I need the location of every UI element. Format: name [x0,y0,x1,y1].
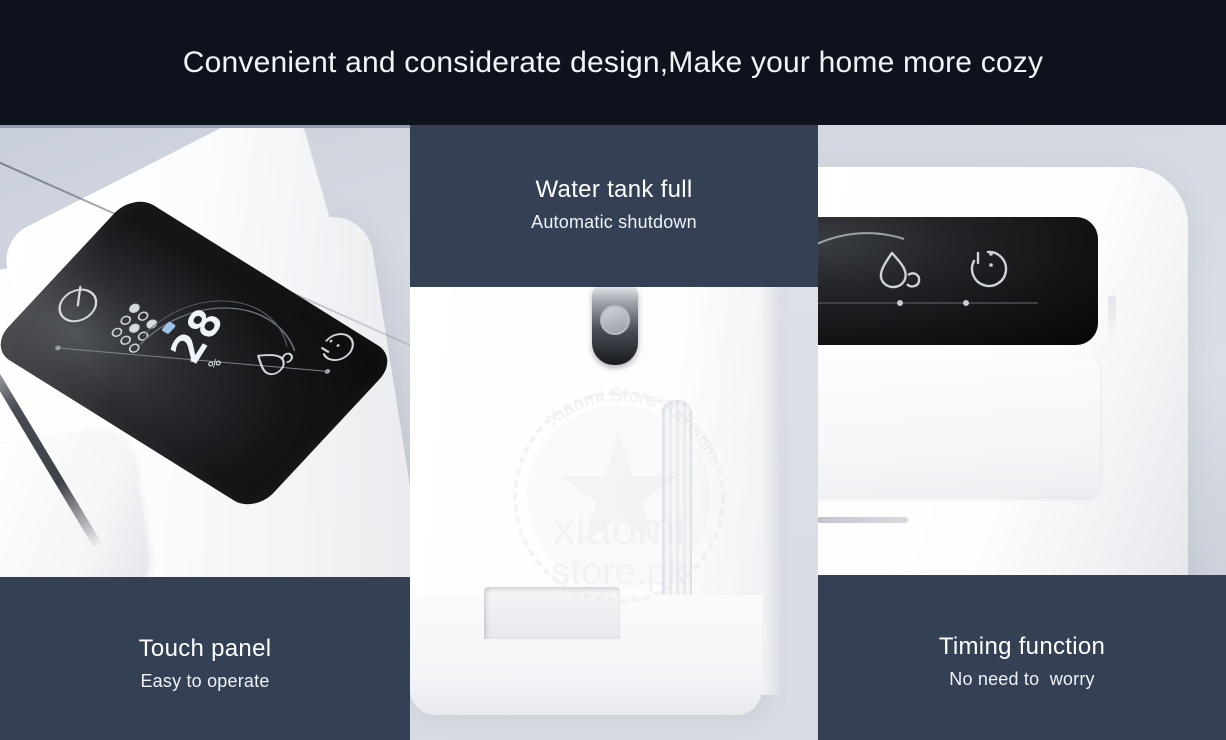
mode-grid-icon [105,303,165,354]
photo-backdrop [818,125,1226,575]
timer-icon [972,252,1006,286]
timing-function-photo [818,125,1226,575]
power-icon [52,284,104,327]
panel-touch-panel: 28 % [0,125,410,740]
touch-panel-caption: Touch panel Easy to operate [0,577,410,740]
header-banner: Convenient and considerate design,Make y… [0,0,1226,125]
panel-water-tank: Xiaomi Store Pakistan xiaomi store.pk Wa… [410,125,818,740]
front-door-panel [818,357,1100,497]
svg-text:%: % [204,355,226,372]
timer-icon [317,329,359,365]
caption-subtitle: Automatic shutdown [531,212,697,233]
caption-title: Timing function [939,632,1105,662]
caption-title: Touch panel [139,634,272,664]
panel-top-hairline [0,125,410,128]
water-drop-icon [881,253,919,287]
caption-subtitle: No need to worry [949,669,1094,690]
water-drop-icon [251,342,294,378]
page-title: Convenient and considerate design,Make y… [183,46,1043,80]
product-feature-graphic: Convenient and considerate design,Make y… [0,0,1226,740]
timing-function-caption: Timing function No need to worry [818,575,1226,740]
touch-panel-photo: 28 % [0,125,410,577]
display-controls [818,217,1098,345]
photo-backdrop: 28 % [0,125,410,577]
drain-port-icon [592,285,638,365]
caption-title: Water tank full [536,175,693,205]
side-notch [1108,295,1116,343]
water-tank-caption: Water tank full Automatic shutdown [410,125,818,287]
drain-port-ring [600,305,630,335]
panel-timing-function: Timing function No need to worry [818,125,1226,740]
tank-handle-recess [484,587,620,639]
svg-text:28: 28 [162,301,235,371]
panel-grid: 28 % [0,125,1226,740]
display-glass-panel[interactable] [818,217,1098,345]
caption-subtitle: Easy to operate [140,671,269,692]
bottom-vent-slot [818,517,908,523]
